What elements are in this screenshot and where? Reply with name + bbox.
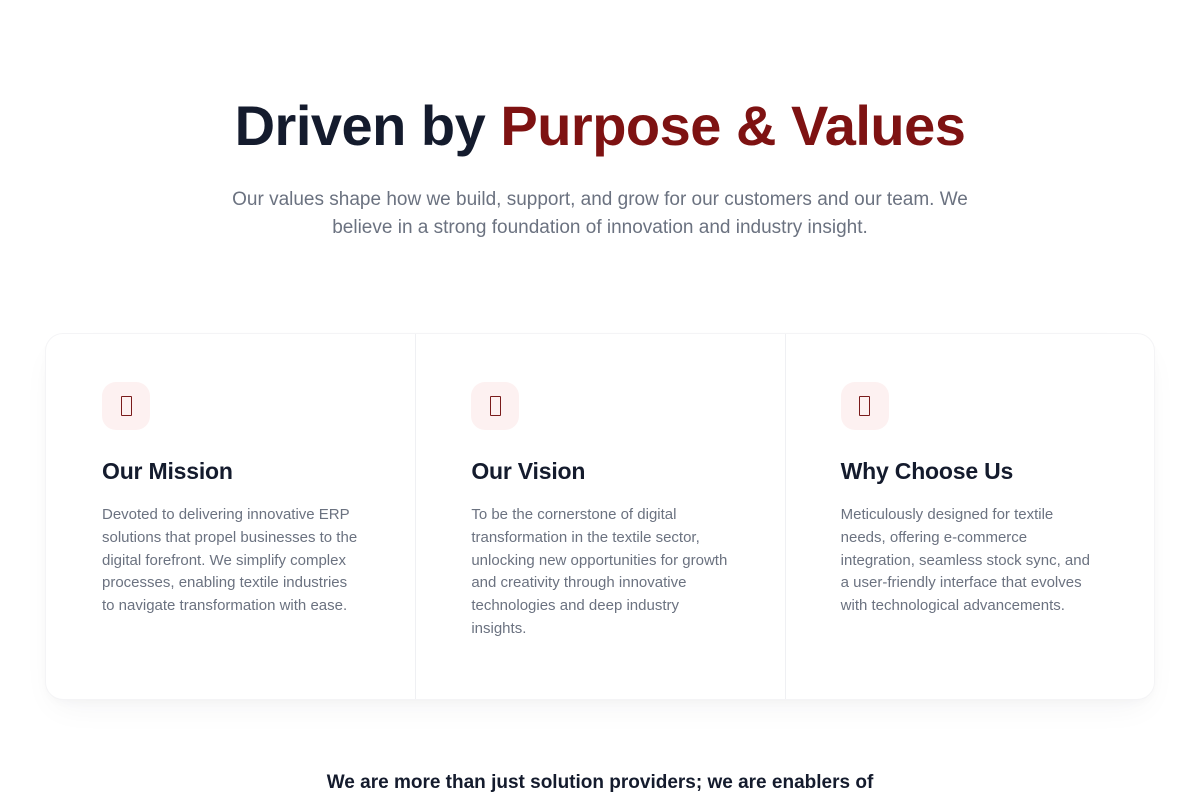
value-card-mission: Our Mission Devoted to delivering innova… [46,334,415,699]
missing-glyph-box-icon [121,396,132,416]
vision-icon-badge [471,382,519,430]
page-title-primary: Driven by [235,94,501,157]
card-title-why-choose-us: Why Choose Us [841,456,1098,486]
values-section-page: Driven by Purpose & Values Our values sh… [0,0,1200,800]
card-title-vision: Our Vision [471,456,728,486]
card-body-why-choose-us: Meticulously designed for textile needs,… [841,504,1098,618]
bottom-statement: We are more than just solution providers… [250,768,950,798]
value-card-vision: Our Vision To be the cornerstone of digi… [415,334,784,699]
missing-glyph-box-icon [490,396,501,416]
section-subtitle: Our values shape how we build, support, … [220,186,980,242]
card-body-vision: To be the cornerstone of digital transfo… [471,504,728,641]
missing-glyph-box-icon [859,396,870,416]
card-body-mission: Devoted to delivering innovative ERP sol… [102,504,359,618]
card-title-mission: Our Mission [102,456,359,486]
mission-icon-badge [102,382,150,430]
page-heading-wrapper: Driven by Purpose & Values [0,92,1200,160]
why-choose-us-icon-badge [841,382,889,430]
page-title: Driven by Purpose & Values [0,92,1200,160]
page-title-accent: Purpose & Values [500,94,965,157]
value-card-why-choose-us: Why Choose Us Meticulously designed for … [785,334,1154,699]
values-cards-panel: Our Mission Devoted to delivering innova… [45,333,1155,700]
